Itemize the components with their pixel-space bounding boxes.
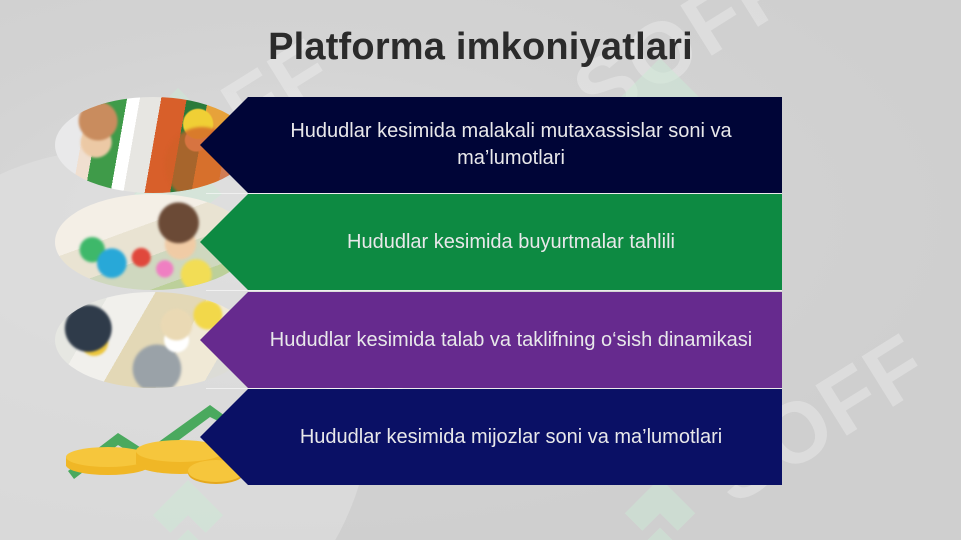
feature-label: Hududlar kesimida buyurtmalar tahlili — [261, 229, 761, 256]
slide-canvas: SOFF SOFF SOFF SOFF — [0, 0, 961, 540]
feature-row[interactable]: Hududlar kesimida buyurtmalar tahlili — [0, 194, 961, 290]
chevron-banner-4[interactable]: Hududlar kesimida mijozlar soni va ma’lu… — [200, 389, 782, 485]
feature-label: Hududlar kesimida malakali mutaxassislar… — [261, 118, 761, 172]
feature-row[interactable]: Hududlar kesimida malakali mutaxassislar… — [0, 97, 961, 193]
row-separator — [206, 193, 782, 194]
feature-rows: Hududlar kesimida malakali mutaxassislar… — [0, 97, 961, 490]
chevron-banner-2[interactable]: Hududlar kesimida buyurtmalar tahlili — [200, 194, 782, 290]
feature-label: Hududlar kesimida mijozlar soni va ma’lu… — [261, 424, 761, 451]
chevron-banner-1[interactable]: Hududlar kesimida malakali mutaxassislar… — [200, 97, 782, 193]
feature-label: Hududlar kesimida talab va taklifning o‘… — [261, 327, 761, 354]
row-separator — [206, 388, 782, 389]
page-title: Platforma imkoniyatlari — [0, 26, 961, 69]
chevron-banner-3[interactable]: Hududlar kesimida talab va taklifning o‘… — [200, 292, 782, 388]
row-separator — [206, 290, 782, 291]
feature-row[interactable]: Hududlar kesimida talab va taklifning o‘… — [0, 292, 961, 388]
feature-row[interactable]: Hududlar kesimida mijozlar soni va ma’lu… — [0, 389, 961, 485]
